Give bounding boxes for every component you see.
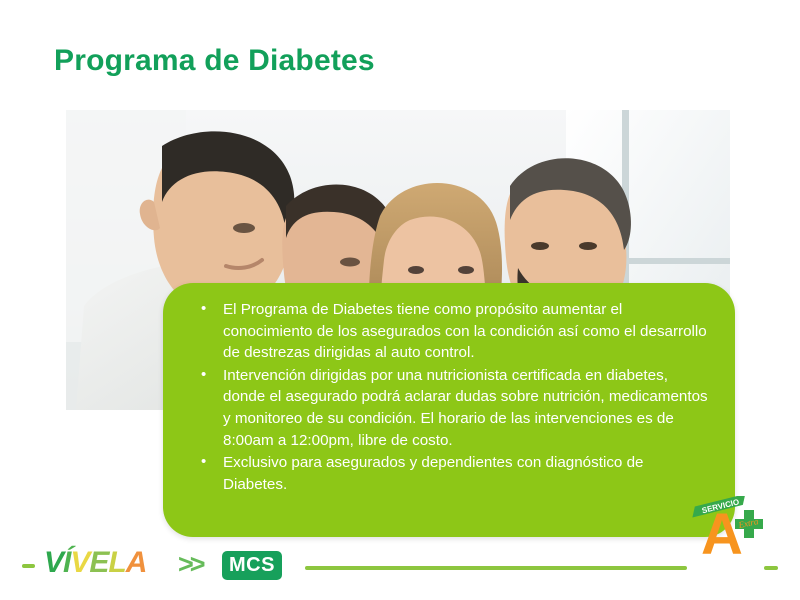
footer-left-dash: [22, 564, 35, 568]
slide-canvas: Programa de Diabetes: [0, 0, 800, 600]
page-title: Programa de Diabetes: [54, 44, 375, 78]
slide-footer: VÍVELA >> MCS A Extra SERVICIO 65: [0, 534, 800, 600]
vivela-letter-5: A: [126, 548, 147, 578]
servicio-extra-badge: A Extra SERVICIO: [692, 496, 768, 558]
bullet-list: El Programa de Diabetes tiene como propó…: [163, 283, 735, 495]
vivela-letter-3: E: [89, 548, 108, 578]
badge-graphic: A Extra SERVICIO: [692, 496, 768, 558]
vivela-letter-0: V: [44, 548, 63, 578]
content-callout-box: El Programa de Diabetes tiene como propó…: [163, 283, 735, 537]
bullet-item: Intervención dirigidas por una nutricion…: [191, 365, 709, 451]
vivela-letter-4: L: [108, 548, 125, 578]
vivela-letter-2: V: [70, 548, 89, 578]
footer-right-dash: [764, 566, 778, 570]
footer-divider: [305, 566, 687, 570]
bullet-item: Exclusivo para asegurados y dependientes…: [191, 452, 709, 495]
chevron-right-icon: >>: [178, 551, 202, 578]
vivela-letter-1: Í: [63, 548, 70, 578]
bullet-item: El Programa de Diabetes tiene como propó…: [191, 299, 709, 364]
mcs-logo: MCS: [222, 551, 282, 580]
vivela-logo: VÍVELA: [44, 548, 146, 578]
